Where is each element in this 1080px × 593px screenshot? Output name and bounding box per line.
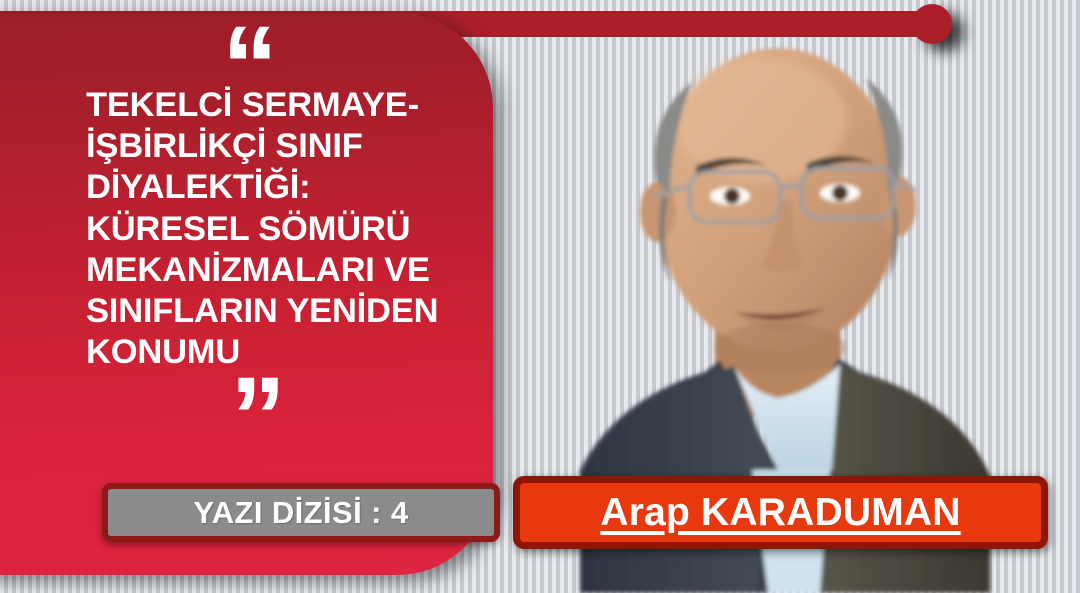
series-badge: YAZI DİZİSİ : 4 (102, 483, 500, 542)
author-name-label: Arap KARADUMAN (600, 491, 960, 535)
headline-panel-content: “ TEKELCİ SERMAYE- İŞBİRLİKÇİ SINIF DİYA… (60, 0, 553, 563)
author-name-banner: Arap KARADUMAN (513, 476, 1048, 549)
article-promo-poster: “ TEKELCİ SERMAYE- İŞBİRLİKÇİ SINIF DİYA… (0, 0, 1080, 593)
series-badge-label: YAZI DİZİSİ : 4 (193, 495, 408, 531)
page-title: TEKELCİ SERMAYE- İŞBİRLİKÇİ SINIF DİYALE… (86, 85, 536, 374)
quote-close-icon: ” (230, 361, 284, 473)
